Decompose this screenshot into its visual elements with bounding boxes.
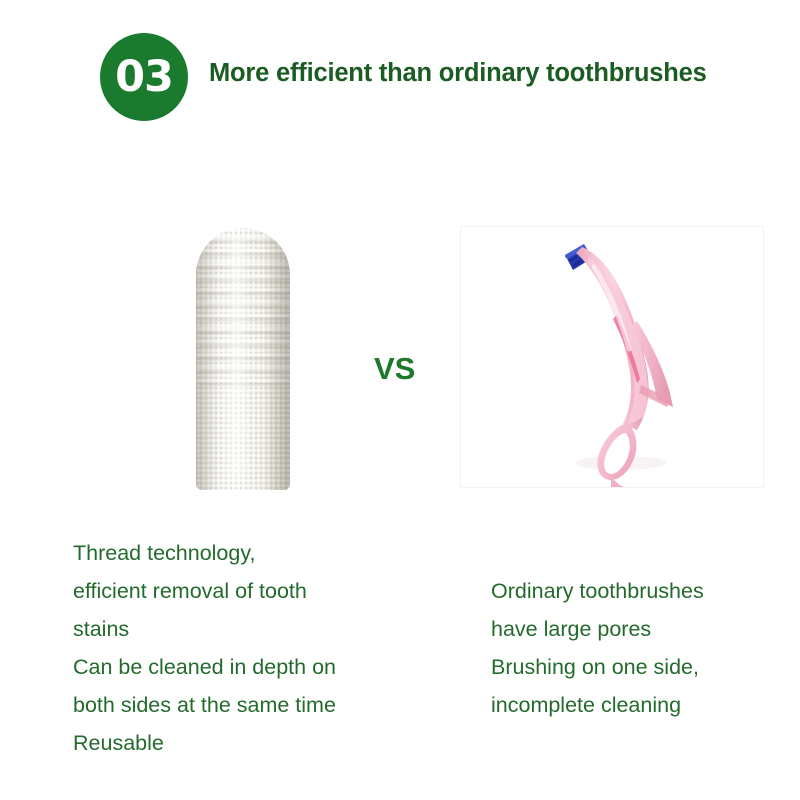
versus-label: VS xyxy=(374,351,415,387)
toothbrush-illustration xyxy=(461,227,763,487)
ordinary-toothbrush-image xyxy=(461,227,763,487)
comparison-section: VS xyxy=(0,150,800,520)
sleeve-body xyxy=(196,228,290,490)
caption-line: Ordinary toothbrushes xyxy=(491,572,791,610)
header-banner: 03 More efficient than ordinary toothbru… xyxy=(0,0,800,150)
caption-line: Reusable xyxy=(73,724,433,762)
caption-line: Can be cleaned in depth on xyxy=(73,648,433,686)
page-title: More efficient than ordinary toothbrushe… xyxy=(209,59,707,88)
caption-line: both sides at the same time xyxy=(73,686,433,724)
caption-line: have large pores xyxy=(491,610,791,648)
sleeve-right-shading xyxy=(264,228,290,490)
caption-line: stains xyxy=(73,610,433,648)
caption-line: efficient removal of tooth xyxy=(73,572,433,610)
step-number-label: 03 xyxy=(115,56,173,99)
sleeve-left-shading xyxy=(196,228,218,490)
caption-line: Brushing on one side, xyxy=(491,648,791,686)
right-product-caption: Ordinary toothbrushes have large pores B… xyxy=(491,572,791,724)
step-number-badge: 03 xyxy=(100,33,188,121)
thread-finger-brush-image xyxy=(196,228,290,490)
left-product-caption: Thread technology, efficient removal of … xyxy=(73,534,433,762)
caption-line: incomplete cleaning xyxy=(491,686,791,724)
caption-line: Thread technology, xyxy=(73,534,433,572)
sleeve-highlight xyxy=(224,238,250,478)
